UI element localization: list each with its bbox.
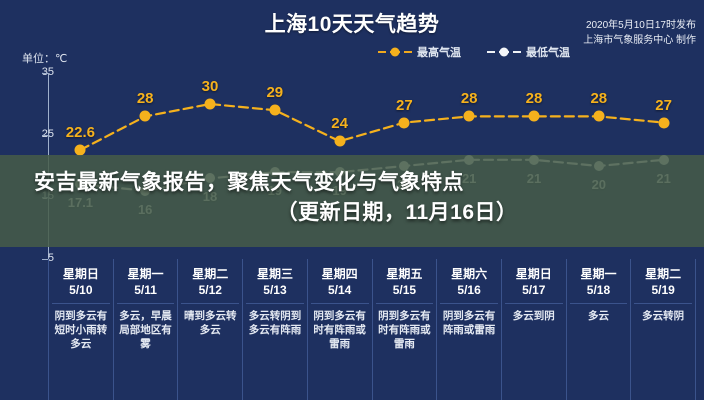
day-column-5-15[interactable]: 星期五5/15阴到多云有时有阵雨或雷雨	[372, 259, 437, 400]
day-column-5-11[interactable]: 星期一5/11多云，早晨局部地区有雾	[113, 259, 178, 400]
data-point-high-5-18	[593, 111, 604, 122]
day-weekday: 星期日	[505, 266, 563, 282]
legend-label-high: 最高气温	[417, 44, 461, 60]
data-point-high-5-13	[269, 105, 280, 116]
data-point-high-5-16	[464, 111, 475, 122]
legend-item-low: 最低气温	[487, 44, 570, 60]
data-point-high-5-10	[75, 144, 86, 155]
legend-dot-high-icon	[391, 48, 400, 57]
data-label-high-5-16: 28	[461, 90, 478, 107]
day-column-5-13[interactable]: 星期三5/13多云转阴到多云有阵雨	[242, 259, 307, 400]
day-divider	[246, 303, 304, 304]
day-weekday: 星期六	[440, 266, 498, 282]
day-date: 5/15	[376, 282, 434, 299]
legend-line-low-icon	[487, 51, 521, 53]
day-date: 5/18	[570, 282, 628, 299]
weather-trend-chart: 上海10天天气趋势 2020年5月10日17时发布 上海市气象服务中心 制作 最…	[0, 0, 704, 400]
data-point-high-5-15	[399, 117, 410, 128]
data-label-high-5-11: 28	[137, 90, 154, 107]
data-label-high-5-14: 24	[331, 115, 348, 132]
overlay-banner-text: 安吉最新气象报告，聚焦天气变化与气象特点 （更新日期，11月16日）	[0, 168, 704, 228]
day-weekday: 星期二	[181, 266, 239, 282]
day-divider	[376, 303, 434, 304]
overlay-headline: 安吉最新气象报告，聚焦天气变化与气象特点	[34, 168, 670, 198]
data-label-high-5-17: 28	[526, 90, 543, 107]
day-column-5-17[interactable]: 星期日5/17多云到阴	[501, 259, 566, 400]
publish-time: 2020年5月10日17时发布	[583, 18, 696, 33]
data-label-high-5-19: 27	[655, 97, 672, 114]
day-divider	[570, 303, 628, 304]
day-weather-description: 多云到阴	[505, 309, 563, 323]
day-weather-description: 阴到多云有时有阵雨或雷雨	[311, 309, 369, 351]
legend-dot-low-icon	[500, 48, 509, 57]
day-divider	[311, 303, 369, 304]
day-date: 5/10	[52, 282, 110, 299]
publisher-info: 2020年5月10日17时发布 上海市气象服务中心 制作	[583, 18, 696, 48]
data-point-high-5-17	[529, 111, 540, 122]
day-divider	[505, 303, 563, 304]
data-point-high-5-11	[140, 111, 151, 122]
day-weekday: 星期四	[311, 266, 369, 282]
day-weekday: 星期五	[376, 266, 434, 282]
data-label-high-5-10: 22.6	[66, 124, 95, 141]
day-weekday: 星期一	[570, 266, 628, 282]
day-date: 5/17	[505, 282, 563, 299]
data-label-high-5-18: 28	[590, 90, 607, 107]
day-column-5-14[interactable]: 星期四5/14阴到多云有时有阵雨或雷雨	[307, 259, 372, 400]
legend-item-high: 最高气温	[378, 44, 461, 60]
day-column-5-12[interactable]: 星期二5/12晴到多云转多云	[177, 259, 242, 400]
day-column-5-19[interactable]: 星期二5/19多云转阴	[630, 259, 696, 400]
day-weather-description: 多云转阴到多云有阵雨	[246, 309, 304, 337]
publisher-name: 上海市气象服务中心 制作	[583, 33, 696, 48]
line-high-temp	[80, 104, 663, 150]
day-date: 5/13	[246, 282, 304, 299]
day-column-5-16[interactable]: 星期六5/16阴到多云有阵雨或雷雨	[436, 259, 501, 400]
day-weekday: 星期二	[634, 266, 692, 282]
day-weather-description: 多云	[570, 309, 628, 323]
day-weather-description: 多云，早晨局部地区有雾	[117, 309, 175, 351]
day-divider	[117, 303, 175, 304]
day-divider	[181, 303, 239, 304]
legend-label-low: 最低气温	[526, 44, 570, 60]
data-label-high-5-15: 27	[396, 97, 413, 114]
day-date: 5/12	[181, 282, 239, 299]
day-weather-description: 阴到多云有短时小雨转多云	[52, 309, 110, 351]
day-date: 5/14	[311, 282, 369, 299]
day-weekday: 星期日	[52, 266, 110, 282]
day-date: 5/11	[117, 282, 175, 299]
legend-line-high-icon	[378, 51, 412, 53]
data-label-high-5-13: 29	[266, 84, 283, 101]
day-weather-description: 多云转阴	[634, 309, 692, 323]
day-date: 5/16	[440, 282, 498, 299]
day-divider	[52, 303, 110, 304]
data-point-high-5-12	[205, 99, 216, 110]
day-column-5-18[interactable]: 星期一5/18多云	[566, 259, 631, 400]
data-point-high-5-19	[658, 117, 669, 128]
day-weather-description: 晴到多云转多云	[181, 309, 239, 337]
day-column-5-10[interactable]: 星期日5/10阴到多云有短时小雨转多云	[48, 259, 113, 400]
day-divider	[440, 303, 498, 304]
day-weather-description: 阴到多云有阵雨或雷雨	[440, 309, 498, 337]
chart-legend: 最高气温 最低气温	[378, 44, 570, 60]
day-weekday: 星期三	[246, 266, 304, 282]
day-divider	[634, 303, 692, 304]
day-forecast-table: 星期日5/10阴到多云有短时小雨转多云星期一5/11多云，早晨局部地区有雾星期二…	[48, 259, 696, 400]
data-label-high-5-12: 30	[202, 78, 219, 95]
data-point-high-5-14	[334, 136, 345, 147]
day-weekday: 星期一	[117, 266, 175, 282]
day-date: 5/19	[634, 282, 692, 299]
day-weather-description: 阴到多云有时有阵雨或雷雨	[376, 309, 434, 351]
overlay-subline: （更新日期，11月16日）	[34, 198, 670, 228]
